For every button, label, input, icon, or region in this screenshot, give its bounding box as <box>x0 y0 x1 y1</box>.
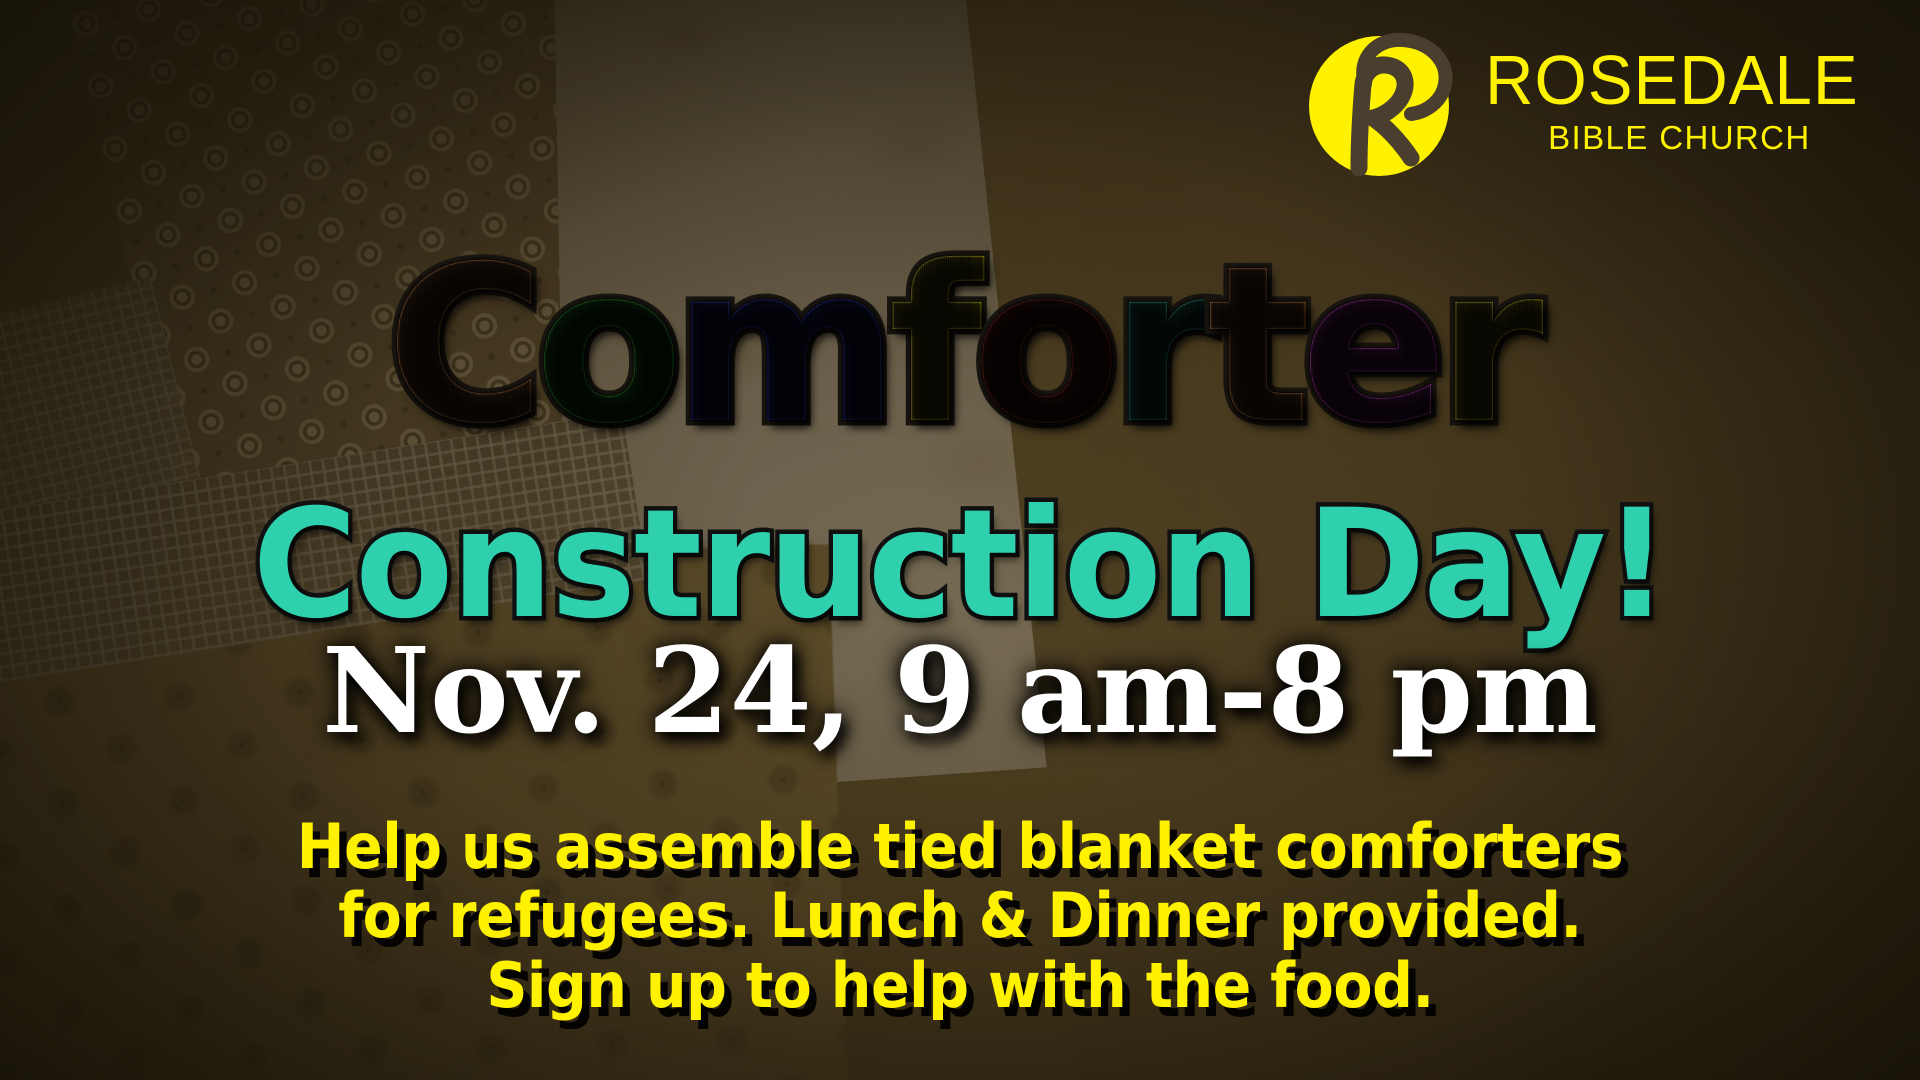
headline-letter-4: o <box>972 238 1110 454</box>
headline-letter-3: f <box>888 238 972 454</box>
headline-letter-8: r <box>1437 238 1534 454</box>
event-description-line-1: for refugees. Lunch & Dinner provided. <box>77 881 1843 950</box>
page-subtitle-construction-day: Construction Day! <box>48 490 1872 640</box>
logo-church-name: ROSEDALE <box>1485 47 1859 114</box>
page-title-comforter: Comforter <box>0 238 1920 454</box>
logo-wordmark: ROSEDALE BIBLE CHURCH <box>1485 47 1874 157</box>
headline-letter-6: t <box>1207 238 1300 454</box>
headline-letter-5: r <box>1111 238 1208 454</box>
headline-letter-2: m <box>673 238 888 454</box>
rosedale-r-circle-icon <box>1299 22 1459 182</box>
church-logo: ROSEDALE BIBLE CHURCH <box>1299 22 1874 182</box>
headline-letter-1: o <box>535 238 673 454</box>
headline-letter-0: C <box>386 238 535 454</box>
logo-church-subtitle: BIBLE CHURCH <box>1485 119 1874 157</box>
event-date-time: Nov. 24, 9 am-8 pm <box>0 632 1920 750</box>
event-description-line-0: Help us assemble tied blanket comforters <box>77 812 1843 881</box>
headline-letter-7: e <box>1301 238 1438 454</box>
poster-canvas: ROSEDALE BIBLE CHURCH Comforter Construc… <box>0 0 1920 1080</box>
event-description-line-2: Sign up to help with the food. <box>77 951 1843 1020</box>
poster-content: ROSEDALE BIBLE CHURCH Comforter Construc… <box>0 0 1920 1080</box>
event-description: Help us assemble tied blanket comforters… <box>77 812 1843 1020</box>
